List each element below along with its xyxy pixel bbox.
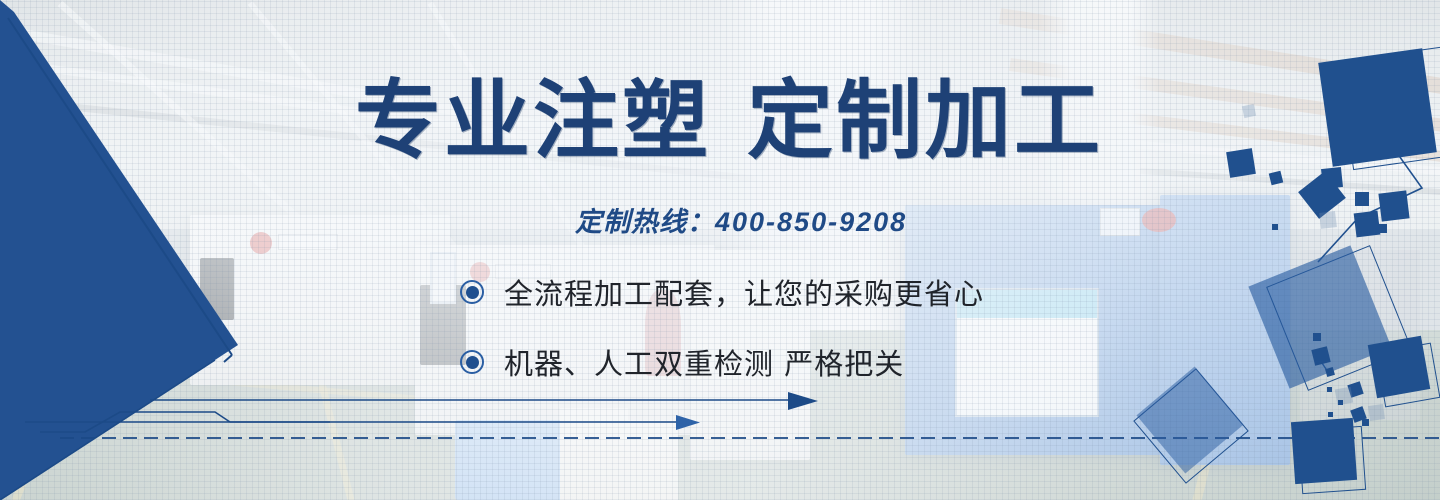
list-item: 机器、人工双重检测 严格把关	[460, 338, 984, 386]
feature-list: 全流程加工配套，让您的采购更省心 机器、人工双重检测 严格把关	[460, 268, 984, 408]
hotline-line: 定制热线：400-850-9208	[575, 200, 907, 239]
hotline-label: 定制热线：	[575, 207, 715, 237]
headline-part-1: 专业注塑	[355, 71, 711, 171]
radio-circle-icon	[460, 280, 484, 304]
feature-text: 机器、人工双重检测 严格把关	[504, 341, 904, 383]
headline-part-2: 定制加工	[747, 71, 1103, 171]
hotline-number[interactable]: 400-850-9208	[715, 207, 907, 237]
feature-text: 全流程加工配套，让您的采购更省心	[504, 271, 984, 313]
banner-content: 专业注塑定制加工 定制热线：400-850-9208 全流程加工配套，让您的采购…	[0, 0, 1440, 500]
radio-circle-icon	[460, 350, 484, 374]
promo-banner: 专业注塑定制加工 定制热线：400-850-9208 全流程加工配套，让您的采购…	[0, 0, 1440, 500]
list-item: 全流程加工配套，让您的采购更省心	[460, 268, 984, 316]
page-title: 专业注塑定制加工	[355, 78, 1103, 164]
